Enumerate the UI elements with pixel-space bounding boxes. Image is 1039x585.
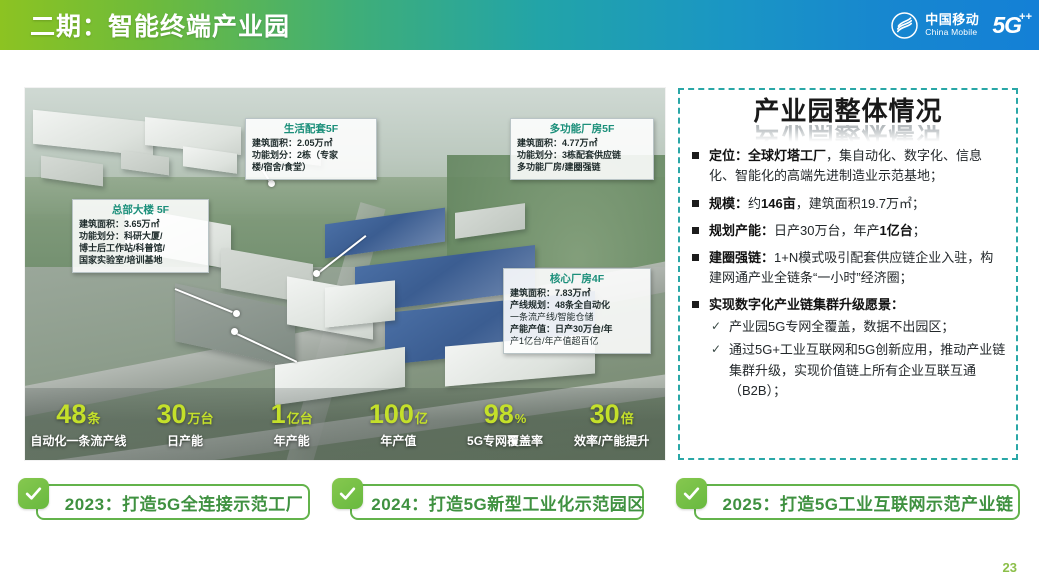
stat-item: 98% 5G专网覆盖率 <box>452 401 559 447</box>
leader-dot-core <box>231 328 238 335</box>
callout-core-plant: 核心厂房4F 建筑面积：7.83万㎡ 产线规划：48条全自动化 一条流产线/智能… <box>503 268 651 354</box>
stat-number: 98 <box>484 399 514 429</box>
overview-bullet-list: 定位：全球灯塔工厂，集自动化、数字化、信息化、智能化的高端先进制造业示范基地； … <box>690 146 1006 401</box>
timeline-item-2024[interactable]: 2024：打造5G新型工业化示范园区 <box>332 478 644 520</box>
brand-name-cn: 中国移动 <box>925 13 979 26</box>
callout-line: 产线规划：48条全自动化 <box>510 300 644 312</box>
stat-label: 年产能 <box>238 435 345 447</box>
stat-number: 100 <box>369 399 414 429</box>
callout-line: 产能产值：日产30万台/年 <box>510 324 644 336</box>
stat-item: 30万台 日产能 <box>132 401 239 447</box>
callout-title: 多功能厂房5F <box>517 123 647 136</box>
timeline-item-2025[interactable]: 2025：打造5G工业互联网示范产业链 <box>676 478 1020 520</box>
check-icon <box>332 478 363 509</box>
bullet-text: ，建筑面积19.7万㎡； <box>796 196 925 211</box>
check-icon <box>676 478 707 509</box>
china-mobile-mark-icon <box>891 12 918 39</box>
plant-side-1 <box>325 280 395 327</box>
overview-sub-list: 产业园5G专网全覆盖，数据不出园区； 通过5G+工业互联网和5G创新应用，推动产… <box>709 317 1006 401</box>
stat-unit: 万台 <box>188 411 214 426</box>
callout-line: 功能划分：2栋（专家 <box>252 150 370 162</box>
callout-line: 一条流产线/智能仓储 <box>510 312 644 324</box>
leader-dot-hq <box>233 310 240 317</box>
fiveg-label: 5G <box>992 12 1021 38</box>
callout-line: 建筑面积：7.83万㎡ <box>510 288 644 300</box>
bullet-scale: 规模：约146亩，建筑面积19.7万㎡； <box>690 194 1006 214</box>
panel-title: 产业园整体情况 <box>690 98 1006 125</box>
bullet-label: 建圈强链： <box>709 250 774 265</box>
stat-item: 48条 自动化一条流产线 <box>25 401 132 447</box>
bullet-positioning: 定位：全球灯塔工厂，集自动化、数字化、信息化、智能化的高端先进制造业示范基地； <box>690 146 1006 186</box>
page-title: 二期：智能终端产业园 <box>30 7 290 43</box>
bullet-highlight: 146亩 <box>761 196 796 211</box>
bullet-label: 规划产能： <box>709 223 774 238</box>
bullet-text: 约 <box>748 196 761 211</box>
sub-item-industrial-internet: 通过5G+工业互联网和5G创新应用，推动产业链集群升级，实现价值链上所有企业互联… <box>709 340 1006 400</box>
callout-title: 核心厂房4F <box>510 273 644 286</box>
stat-label: 年产值 <box>345 435 452 447</box>
callout-line: 博士后工作站/科普馆/ <box>79 243 202 255</box>
callout-multifunction-plant: 多功能厂房5F 建筑面积：4.77万㎡ 功能划分：3栋配套供应链 多功能厂房/建… <box>510 118 654 180</box>
timeline-box[interactable]: 2024：打造5G新型工业化示范园区 <box>350 484 644 520</box>
stat-number: 48 <box>56 399 86 429</box>
timeline-box[interactable]: 2023：打造5G全连接示范工厂 <box>36 484 310 520</box>
bullet-highlight: 全球灯塔工厂 <box>748 148 826 163</box>
stat-label: 5G专网覆盖率 <box>452 435 559 447</box>
bullet-label: 定位： <box>709 148 748 163</box>
timeline-item-2023[interactable]: 2023：打造5G全连接示范工厂 <box>18 478 310 520</box>
stat-number: 30 <box>156 399 186 429</box>
stat-unit: 亿台 <box>287 411 313 426</box>
callout-line: 建筑面积：3.65万㎡ <box>79 219 202 231</box>
bullet-label: 规模： <box>709 196 748 211</box>
panel-title-reflection: 产业园整体情况 <box>690 125 1006 142</box>
stat-unit: 倍 <box>621 411 634 426</box>
timeline-label: 2023：打造5G全连接示范工厂 <box>43 490 304 515</box>
callout-title: 总部大楼 5F <box>79 204 202 217</box>
bullet-capacity: 规划产能：日产30万台，年产1亿台； <box>690 221 1006 241</box>
check-icon <box>18 478 49 509</box>
callout-line: 功能划分：科研大厦/ <box>79 231 202 243</box>
stat-number: 30 <box>590 399 620 429</box>
page-number: 23 <box>1003 560 1017 575</box>
stat-label: 自动化一条流产线 <box>25 435 132 447</box>
stat-number: 1 <box>271 399 286 429</box>
sub-item-private-network: 产业园5G专网全覆盖，数据不出园区； <box>709 317 1006 337</box>
aerial-render-image: 总部大楼 5F 建筑面积：3.65万㎡ 功能划分：科研大厦/ 博士后工作站/科普… <box>25 88 665 460</box>
roadmap-timeline: 2023：打造5G全连接示范工厂 2024：打造5G新型工业化示范园区 2025… <box>0 478 1039 528</box>
bullet-label: 实现数字化产业链集群升级愿景： <box>709 297 904 312</box>
stat-label: 效率/产能提升 <box>558 435 665 447</box>
stat-label: 日产能 <box>132 435 239 447</box>
brand-name-en: China Mobile <box>925 28 979 37</box>
stat-item: 100亿 年产值 <box>345 401 452 447</box>
brand-logo: 中国移动 China Mobile 5G ++ <box>891 8 1021 42</box>
stat-unit: 亿 <box>415 411 428 426</box>
callout-headquarters: 总部大楼 5F 建筑面积：3.65万㎡ 功能划分：科研大厦/ 博士后工作站/科普… <box>72 199 209 273</box>
bullet-text: ； <box>913 223 926 238</box>
timeline-label: 2025：打造5G工业互联网示范产业链 <box>701 490 1014 515</box>
bullet-digital-vision: 实现数字化产业链集群升级愿景： 产业园5G专网全覆盖，数据不出园区； 通过5G+… <box>690 295 1006 401</box>
callout-title: 生活配套5F <box>252 123 370 136</box>
callout-line: 建筑面积：4.77万㎡ <box>517 138 647 150</box>
brand-wordmark: 中国移动 China Mobile <box>925 13 979 37</box>
callout-line: 国家实验室/培训基地 <box>79 255 202 267</box>
callout-line: 楼/宿舍/食堂） <box>252 162 370 174</box>
leader-dot-living <box>268 180 275 187</box>
stat-unit: 条 <box>87 411 100 426</box>
timeline-label: 2024：打造5G新型工业化示范园区 <box>349 490 645 515</box>
callout-line: 建筑面积：2.05万㎡ <box>252 138 370 150</box>
stat-item: 30倍 效率/产能提升 <box>558 401 665 447</box>
stats-strip: 48条 自动化一条流产线 30万台 日产能 1亿台 年产能 100亿 年产值 9… <box>25 388 665 460</box>
callout-line: 功能划分：3栋配套供应链 <box>517 150 647 162</box>
timeline-box[interactable]: 2025：打造5G工业互联网示范产业链 <box>694 484 1020 520</box>
callout-line: 产1亿台/年产值超百亿 <box>510 336 644 348</box>
fiveg-plus-icon: ++ <box>1019 11 1032 23</box>
bullet-supply-chain: 建圈强链：1+N模式吸引配套供应链企业入驻，构建网通产业全链条“一小时”经济圈； <box>690 248 1006 288</box>
callout-line: 多功能厂房/建圈强链 <box>517 162 647 174</box>
leader-dot-multi <box>313 270 320 277</box>
fiveg-logo: 5G ++ <box>992 12 1021 39</box>
callout-living-facility: 生活配套5F 建筑面积：2.05万㎡ 功能划分：2栋（专家 楼/宿舍/食堂） <box>245 118 377 180</box>
bullet-text: 日产30万台，年产 <box>774 223 879 238</box>
bullet-highlight: 1亿台 <box>879 223 912 238</box>
overview-panel: 产业园整体情况 产业园整体情况 定位：全球灯塔工厂，集自动化、数字化、信息化、智… <box>678 88 1018 460</box>
stat-item: 1亿台 年产能 <box>238 401 345 447</box>
stat-unit: % <box>515 411 527 426</box>
slide-header: 二期：智能终端产业园 中国移动 China Mobile 5G ++ <box>0 0 1039 50</box>
